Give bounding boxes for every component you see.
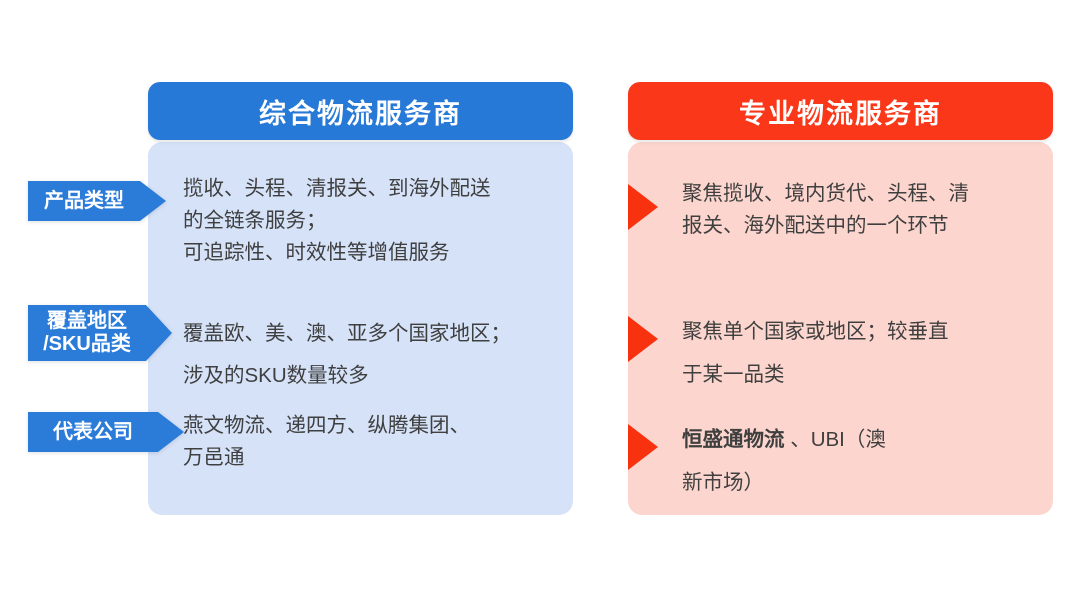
row-label-coverage-sku: 覆盖地区 /SKU品类 bbox=[28, 305, 172, 361]
row-label-product-type-body: 产品类型 bbox=[28, 181, 140, 221]
triangle-bullet-icon bbox=[628, 424, 658, 470]
arrow-right-icon bbox=[140, 181, 166, 221]
right-cell-coverage-sku: 聚焦单个国家或地区；较垂直 于某一品类 bbox=[682, 310, 949, 396]
triangle-bullet-icon bbox=[628, 316, 658, 362]
arrow-right-icon bbox=[158, 412, 184, 452]
left-column-header: 综合物流服务商 bbox=[148, 82, 573, 140]
right-row-representative-companies: 恒盛通物流 、UBI（澳 新市场） bbox=[628, 418, 1053, 504]
comparison-diagram: 综合物流服务商 专业物流服务商 产品类型 覆盖地区 /SKU品类 代表公司 揽收… bbox=[0, 0, 1080, 608]
right-row-coverage-sku: 聚焦单个国家或地区；较垂直 于某一品类 bbox=[628, 310, 1053, 396]
right-cell-representative-companies: 恒盛通物流 、UBI（澳 新市场） bbox=[682, 418, 886, 504]
right-cell-product-type: 聚焦揽收、境内货代、头程、清 报关、海外配送中的一个环节 bbox=[682, 178, 969, 242]
row-label-coverage-sku-body: 覆盖地区 /SKU品类 bbox=[28, 305, 146, 361]
row-label-product-type: 产品类型 bbox=[28, 181, 166, 221]
right-column-header: 专业物流服务商 bbox=[628, 82, 1053, 140]
right-cell-company-name-bold: 恒盛通物流 bbox=[682, 428, 785, 451]
row-label-representative-companies: 代表公司 bbox=[28, 412, 184, 452]
left-cell-product-type: 揽收、头程、清报关、到海外配送 的全链条服务； 可追踪性、时效性等增值服务 bbox=[183, 173, 563, 268]
arrow-right-icon bbox=[146, 305, 172, 361]
row-label-representative-companies-body: 代表公司 bbox=[28, 412, 158, 452]
left-cell-coverage-sku: 覆盖欧、美、澳、亚多个国家地区； 涉及的SKU数量较多 bbox=[183, 313, 563, 397]
triangle-bullet-icon bbox=[628, 184, 658, 230]
row-label-product-type-text: 产品类型 bbox=[44, 190, 124, 213]
row-label-coverage-sku-line1: 覆盖地区 bbox=[47, 310, 127, 333]
right-row-product-type: 聚焦揽收、境内货代、头程、清 报关、海外配送中的一个环节 bbox=[628, 178, 1053, 242]
row-label-coverage-sku-line2: /SKU品类 bbox=[43, 333, 131, 356]
left-cell-representative-companies: 燕文物流、递四方、纵腾集团、 万邑通 bbox=[183, 410, 563, 474]
row-label-representative-companies-text: 代表公司 bbox=[53, 421, 133, 444]
